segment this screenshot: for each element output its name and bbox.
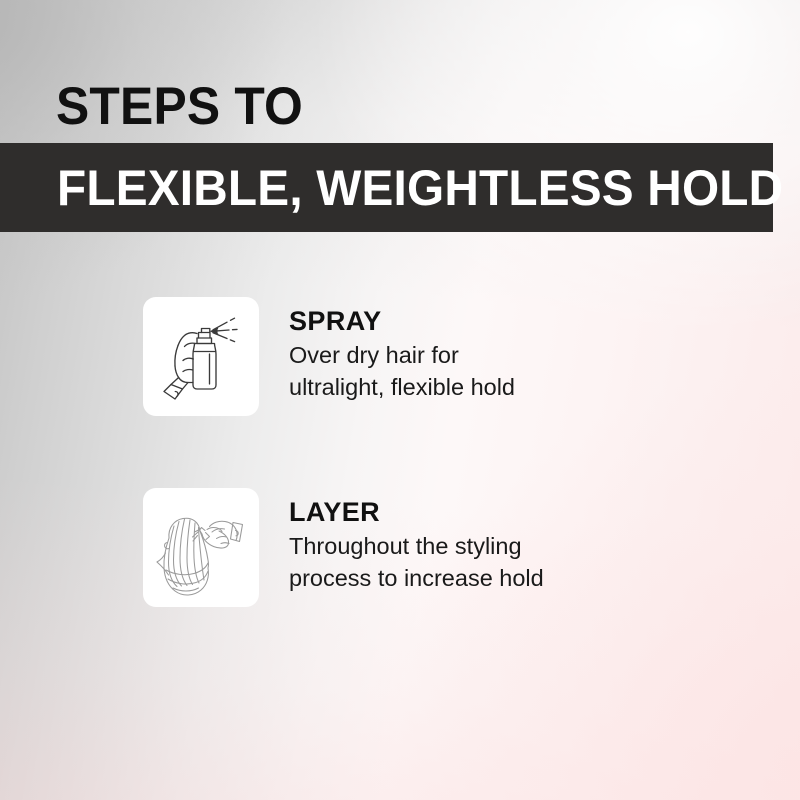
hand-spray-can-icon — [151, 307, 251, 407]
step-text-spray: SPRAY Over dry hair for ultralight, flex… — [289, 297, 515, 403]
poster-canvas: STEPS TO FLEXIBLE, WEIGHTLESS HOLD — [0, 0, 800, 800]
headline-line-one: STEPS TO — [56, 80, 303, 133]
hand-spraying-long-hair-icon — [149, 496, 253, 600]
headline-band: FLEXIBLE, WEIGHTLESS HOLD — [0, 143, 773, 232]
step-desc-line-1: Throughout the styling — [289, 531, 544, 562]
step-text-layer: LAYER Throughout the styling process to … — [289, 488, 544, 594]
step-description-spray: Over dry hair for ultralight, flexible h… — [289, 340, 515, 403]
step-description-layer: Throughout the styling process to increa… — [289, 531, 544, 594]
icon-card-layer — [143, 488, 259, 607]
step-title-layer: LAYER — [289, 498, 544, 526]
step-desc-line-2: process to increase hold — [289, 563, 544, 594]
step-desc-line-2: ultralight, flexible hold — [289, 372, 515, 403]
step-item-spray: SPRAY Over dry hair for ultralight, flex… — [143, 297, 515, 416]
step-item-layer: LAYER Throughout the styling process to … — [143, 488, 544, 607]
icon-card-spray — [143, 297, 259, 416]
step-desc-line-1: Over dry hair for — [289, 340, 515, 371]
step-title-spray: SPRAY — [289, 307, 515, 335]
headline-line-two: FLEXIBLE, WEIGHTLESS HOLD — [57, 163, 783, 213]
